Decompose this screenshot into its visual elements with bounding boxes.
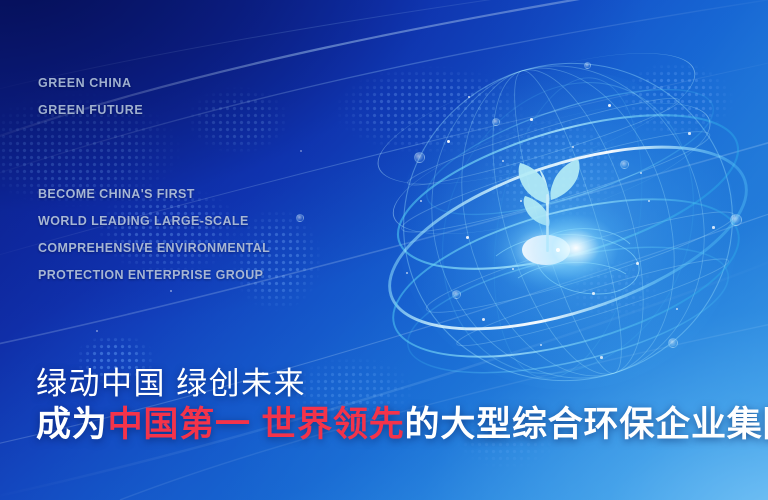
- headline-block: 绿动中国 绿创未来 成为中国第一 世界领先的大型综合环保企业集团: [36, 366, 768, 446]
- tagline-body-line-4: PROTECTION ENTERPRISE GROUP: [38, 262, 270, 289]
- tagline-body-line-1: BECOME CHINA'S FIRST: [38, 181, 270, 208]
- tagline-body: BECOME CHINA'S FIRST WORLD LEADING LARGE…: [38, 181, 270, 289]
- tagline-body-line-3: COMPREHENSIVE ENVIRONMENTAL: [38, 235, 270, 262]
- headline-line-2-suffix: 的大型综合环保企业集团: [405, 405, 768, 444]
- tagline-body-line-2: WORLD LEADING LARGE-SCALE: [38, 208, 270, 235]
- tagline-top-line-2: GREEN FUTURE: [38, 97, 143, 124]
- hero-banner: GREEN CHINA GREEN FUTURE BECOME CHINA'S …: [0, 0, 768, 500]
- tagline-top: GREEN CHINA GREEN FUTURE: [38, 70, 143, 124]
- headline-line-2-prefix: 成为: [36, 405, 108, 444]
- tagline-top-line-1: GREEN CHINA: [38, 70, 143, 97]
- headline-line-2: 成为中国第一 世界领先的大型综合环保企业集团: [36, 404, 768, 446]
- headline-line-1: 绿动中国 绿创未来: [36, 366, 768, 402]
- headline-line-2-highlight: 中国第一 世界领先: [108, 405, 405, 444]
